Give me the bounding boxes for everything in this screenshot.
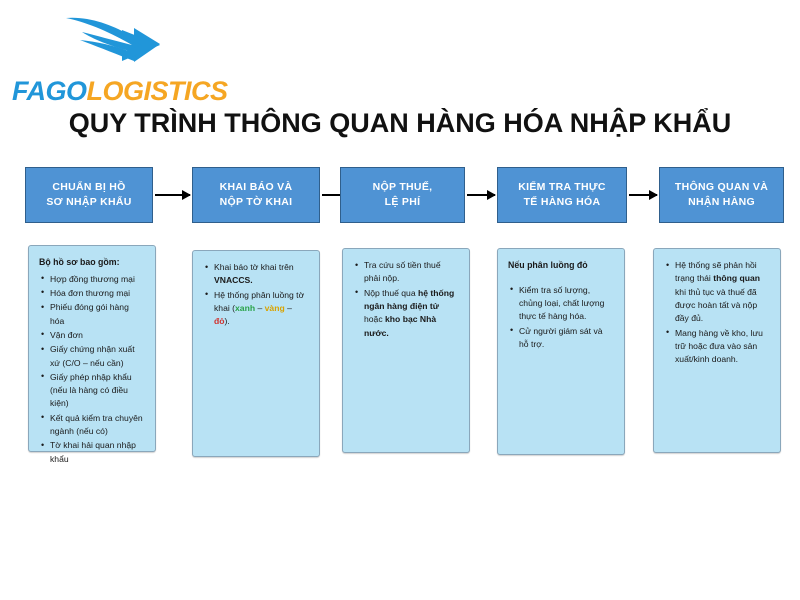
step-header-5-line1: THÔNG QUAN VÀ bbox=[675, 180, 768, 195]
panel-4-list: Kiểm tra số lượng, chủng loại, chất lượn… bbox=[508, 284, 614, 352]
list-item: Vận đơn bbox=[50, 329, 145, 342]
list-item: Hệ thống sẽ phản hồi trạng thái thông qu… bbox=[675, 259, 770, 326]
step-header-1-line2: SƠ NHẬP KHẨU bbox=[46, 195, 131, 210]
step-header-1-line1: CHUẨN BỊ HỒ bbox=[46, 180, 131, 195]
flow-arrow-4 bbox=[629, 194, 657, 196]
panel-5-list: Hệ thống sẽ phản hồi trạng thái thông qu… bbox=[664, 259, 770, 367]
step-header-3-line2: LỆ PHÍ bbox=[373, 195, 433, 210]
step-header-5-line2: NHẬN HÀNG bbox=[675, 195, 768, 210]
step-header-4[interactable]: KIỂM TRA THỰC TẾ HÀNG HÓA bbox=[497, 167, 627, 223]
page-title: QUY TRÌNH THÔNG QUAN HÀNG HÓA NHẬP KHẨU bbox=[0, 108, 800, 139]
list-item: Nộp thuế qua hệ thống ngân hàng điện tử … bbox=[364, 287, 459, 340]
step-panel-1: Bộ hồ sơ bao gồm: Hợp đồng thương mại Hó… bbox=[28, 245, 156, 452]
panel-3-list: Tra cứu số tiền thuế phải nộp. Nộp thuế … bbox=[353, 259, 459, 340]
panel-4-heading: Nếu phân luồng đỏ bbox=[508, 259, 614, 273]
brand-name-primary: FAGO bbox=[12, 76, 87, 106]
list-item: Hợp đồng thương mại bbox=[50, 273, 145, 286]
step-header-4-line1: KIỂM TRA THỰC bbox=[518, 180, 605, 195]
list-item: Cử người giám sát và hỗ trợ. bbox=[519, 325, 614, 352]
flow-arrow-1 bbox=[155, 194, 190, 196]
brand-logo: FAGOLOGISTICS bbox=[12, 14, 212, 104]
process-flow-header-row: CHUẨN BỊ HỒ SƠ NHẬP KHẨU KHAI BÁO VÀ NỘP… bbox=[0, 167, 800, 223]
step-panel-5: Hệ thống sẽ phản hồi trạng thái thông qu… bbox=[653, 248, 781, 453]
list-item: Kiểm tra số lượng, chủng loại, chất lượn… bbox=[519, 284, 614, 324]
step-header-3-line1: NỘP THUẾ, bbox=[373, 180, 433, 195]
list-item: Giấy phép nhập khẩu (nếu là hàng có điều… bbox=[50, 371, 145, 411]
brand-wordmark: FAGOLOGISTICS bbox=[12, 76, 228, 107]
list-item: Phiếu đóng gói hàng hóa bbox=[50, 301, 145, 328]
panel-2-list: Khai báo tờ khai trên VNACCS. Hệ thống p… bbox=[203, 261, 309, 329]
list-item: Giấy chứng nhận xuất xứ (C/O – nếu cần) bbox=[50, 343, 145, 370]
list-item: Hóa đơn thương mại bbox=[50, 287, 145, 300]
step-header-2-line1: KHAI BÁO VÀ bbox=[220, 180, 293, 195]
list-item: Hệ thống phân luồng tờ khai (xanh – vàng… bbox=[214, 289, 309, 329]
step-panel-2: Khai báo tờ khai trên VNACCS. Hệ thống p… bbox=[192, 250, 320, 457]
step-header-4-line2: TẾ HÀNG HÓA bbox=[518, 195, 605, 210]
step-header-3[interactable]: NỘP THUẾ, LỆ PHÍ bbox=[340, 167, 465, 223]
list-item: Tờ khai hải quan nhập khẩu bbox=[50, 439, 145, 466]
step-header-1[interactable]: CHUẨN BỊ HỒ SƠ NHẬP KHẨU bbox=[25, 167, 153, 223]
panel-1-list: Hợp đồng thương mại Hóa đơn thương mại P… bbox=[39, 273, 145, 466]
panel-1-heading: Bộ hồ sơ bao gồm: bbox=[39, 256, 145, 270]
step-header-2[interactable]: KHAI BÁO VÀ NỘP TỜ KHAI bbox=[192, 167, 320, 223]
step-panel-4: Nếu phân luồng đỏ Kiểm tra số lượng, chủ… bbox=[497, 248, 625, 455]
list-item: Kết quả kiểm tra chuyên ngành (nếu có) bbox=[50, 412, 145, 439]
list-item: Khai báo tờ khai trên VNACCS. bbox=[214, 261, 309, 288]
step-header-2-line2: NỘP TỜ KHAI bbox=[220, 195, 293, 210]
step-header-5[interactable]: THÔNG QUAN VÀ NHẬN HÀNG bbox=[659, 167, 784, 223]
brand-name-secondary: LOGISTICS bbox=[87, 76, 228, 106]
flow-arrow-3 bbox=[467, 194, 495, 196]
list-item: Tra cứu số tiền thuế phải nộp. bbox=[364, 259, 459, 286]
list-item: Mang hàng về kho, lưu trữ hoặc đưa vào s… bbox=[675, 327, 770, 367]
step-panel-3: Tra cứu số tiền thuế phải nộp. Nộp thuế … bbox=[342, 248, 470, 453]
arrow-swoosh-icon bbox=[64, 14, 184, 76]
